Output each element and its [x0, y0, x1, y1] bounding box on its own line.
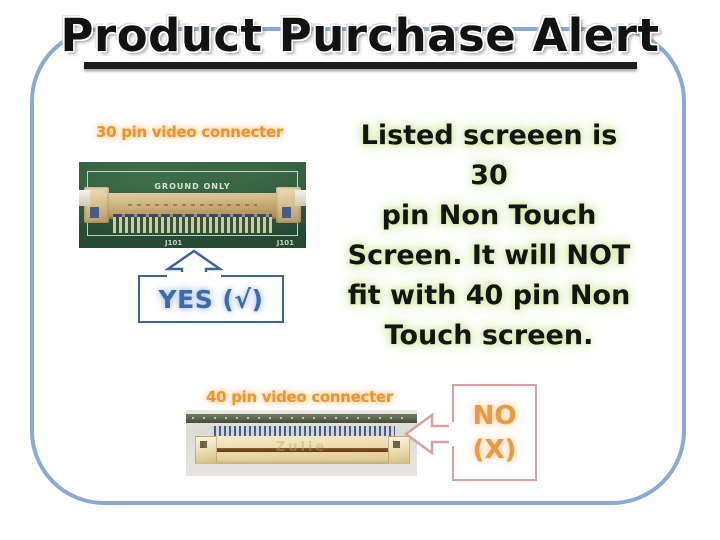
no-label-line-1: NO	[473, 399, 517, 433]
silkscreen-ground-only-text: GROUND ONLY	[79, 182, 306, 191]
photo-watermark: Zulie	[186, 440, 417, 455]
photo-40-pin-connector: Zulie	[186, 410, 417, 476]
no-box: NO (X)	[452, 384, 537, 481]
page-title: Product Purchase Alert	[60, 12, 660, 59]
board-edge-strip-40pin	[186, 414, 417, 423]
no-callout: NO (X)	[404, 384, 537, 481]
connector-pins-30pin	[113, 217, 272, 233]
no-label-line-2: (X)	[473, 433, 517, 467]
main-message: Listed screeen is 30 pin Non Touch Scree…	[338, 116, 640, 356]
silkscreen-label-right: J101	[277, 239, 294, 247]
message-line-4: fit with 40 pin Non	[338, 276, 640, 316]
yes-callout: YES (√)	[138, 249, 284, 324]
title-underline	[84, 62, 637, 69]
connector-mount-right-30pin	[295, 190, 306, 206]
message-line-3: Screen. It will NOT	[338, 236, 640, 276]
page-title-block: Product Purchase Alert	[60, 12, 660, 69]
caption-30-pin-video-connector: 30 pin video connecter	[96, 123, 283, 141]
message-line-1: Listed screeen is 30	[338, 116, 640, 196]
connector-mount-left-30pin	[79, 190, 90, 206]
message-line-5: Touch screen.	[338, 316, 640, 356]
caption-40-pin-video-connector: 40 pin video connecter	[206, 388, 393, 406]
photo-30-pin-connector: GROUND ONLY J101 J101	[79, 162, 306, 248]
yes-box-arrow-join	[167, 272, 221, 280]
yes-label: YES (√)	[159, 285, 264, 314]
silkscreen-label-left: J101	[165, 239, 182, 247]
no-box-arrow-join	[449, 422, 458, 446]
yes-box: YES (√)	[138, 275, 284, 323]
message-line-2: pin Non Touch	[338, 196, 640, 236]
